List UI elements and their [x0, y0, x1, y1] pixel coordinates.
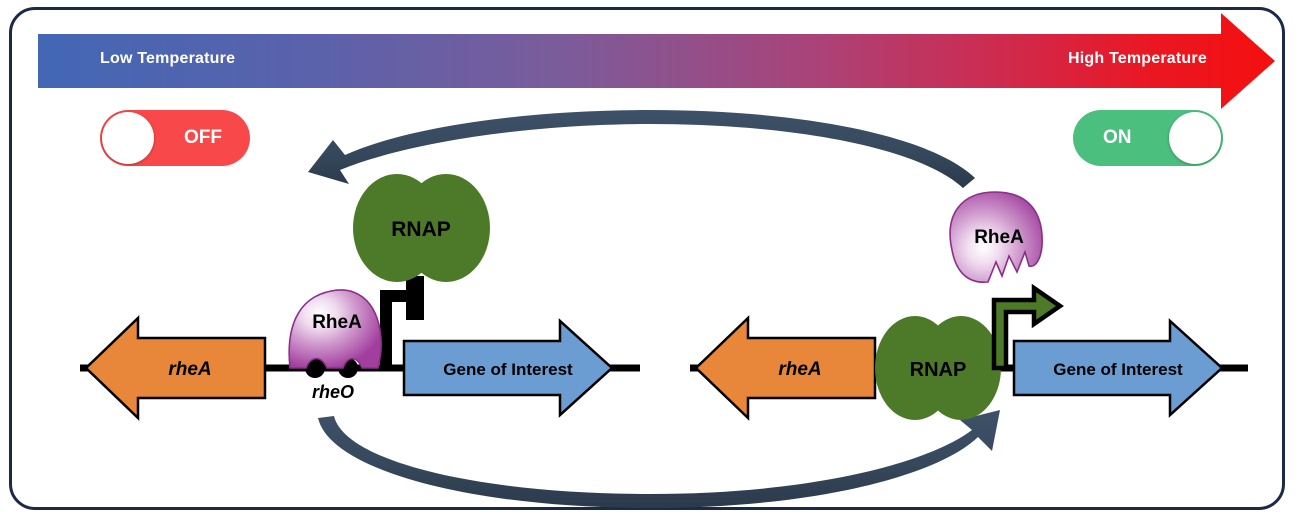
gene-of-interest-label-left: Gene of Interest: [443, 360, 573, 379]
rnap-label-right: RNAP: [910, 359, 967, 381]
panel-right: rheA RNAP Gene of Interest RheA: [690, 192, 1248, 420]
rhea-label-right: RheA: [974, 227, 1024, 248]
operator-label-left: rheO: [312, 382, 354, 402]
gene-rheA-label-left: rheA: [168, 359, 211, 380]
gene-rheA-label-right: rheA: [778, 359, 821, 380]
gene-of-interest-label-right: Gene of Interest: [1053, 360, 1183, 379]
rnap-label-left: RNAP: [391, 218, 451, 241]
figure-canvas: Low Temperature High Temperature OFF ON: [0, 0, 1299, 520]
rhea-label-left: RheA: [312, 312, 362, 333]
diagram-layer: Gene of Interest RNAP RheA rheO rheA: [0, 0, 1299, 520]
feedback-arrow-bottom: [318, 410, 1000, 508]
panel-left: Gene of Interest RNAP RheA rheO rheA: [80, 174, 640, 418]
